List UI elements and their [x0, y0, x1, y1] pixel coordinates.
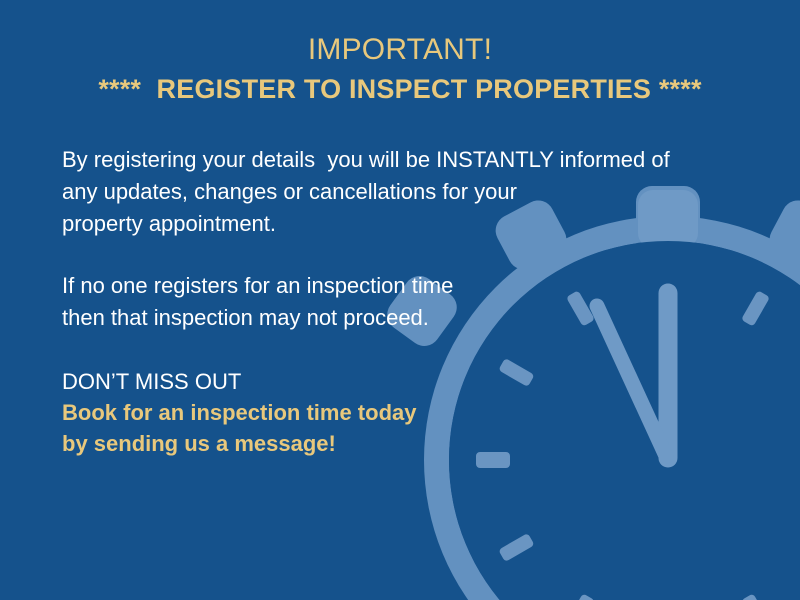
paragraph-spacer: [62, 240, 722, 270]
body-paragraph-1-line-2: any updates, changes or cancellations fo…: [62, 176, 722, 208]
page-title: IMPORTANT!: [0, 30, 800, 70]
body-paragraph-1-line-1: By registering your details you will be …: [62, 144, 722, 176]
call-to-action-block: DON’T MISS OUT Book for an inspection ti…: [62, 366, 562, 459]
cta-line-dont-miss-out: DON’T MISS OUT: [62, 366, 562, 397]
promotional-slide: IMPORTANT! **** REGISTER TO INSPECT PROP…: [0, 0, 800, 600]
slide-content: IMPORTANT! **** REGISTER TO INSPECT PROP…: [0, 0, 800, 600]
body-paragraph-2-line-1: If no one registers for an inspection ti…: [62, 270, 722, 302]
body-text-block: By registering your details you will be …: [62, 144, 722, 334]
page-subtitle: **** REGISTER TO INSPECT PROPERTIES ****: [0, 70, 800, 108]
body-paragraph-2-line-2: then that inspection may not proceed.: [62, 302, 722, 334]
cta-line-send-message: by sending us a message!: [62, 428, 562, 459]
body-paragraph-1-line-3: property appointment.: [62, 208, 722, 240]
headline-block: IMPORTANT! **** REGISTER TO INSPECT PROP…: [0, 30, 800, 108]
cta-line-book-inspection: Book for an inspection time today: [62, 397, 562, 428]
